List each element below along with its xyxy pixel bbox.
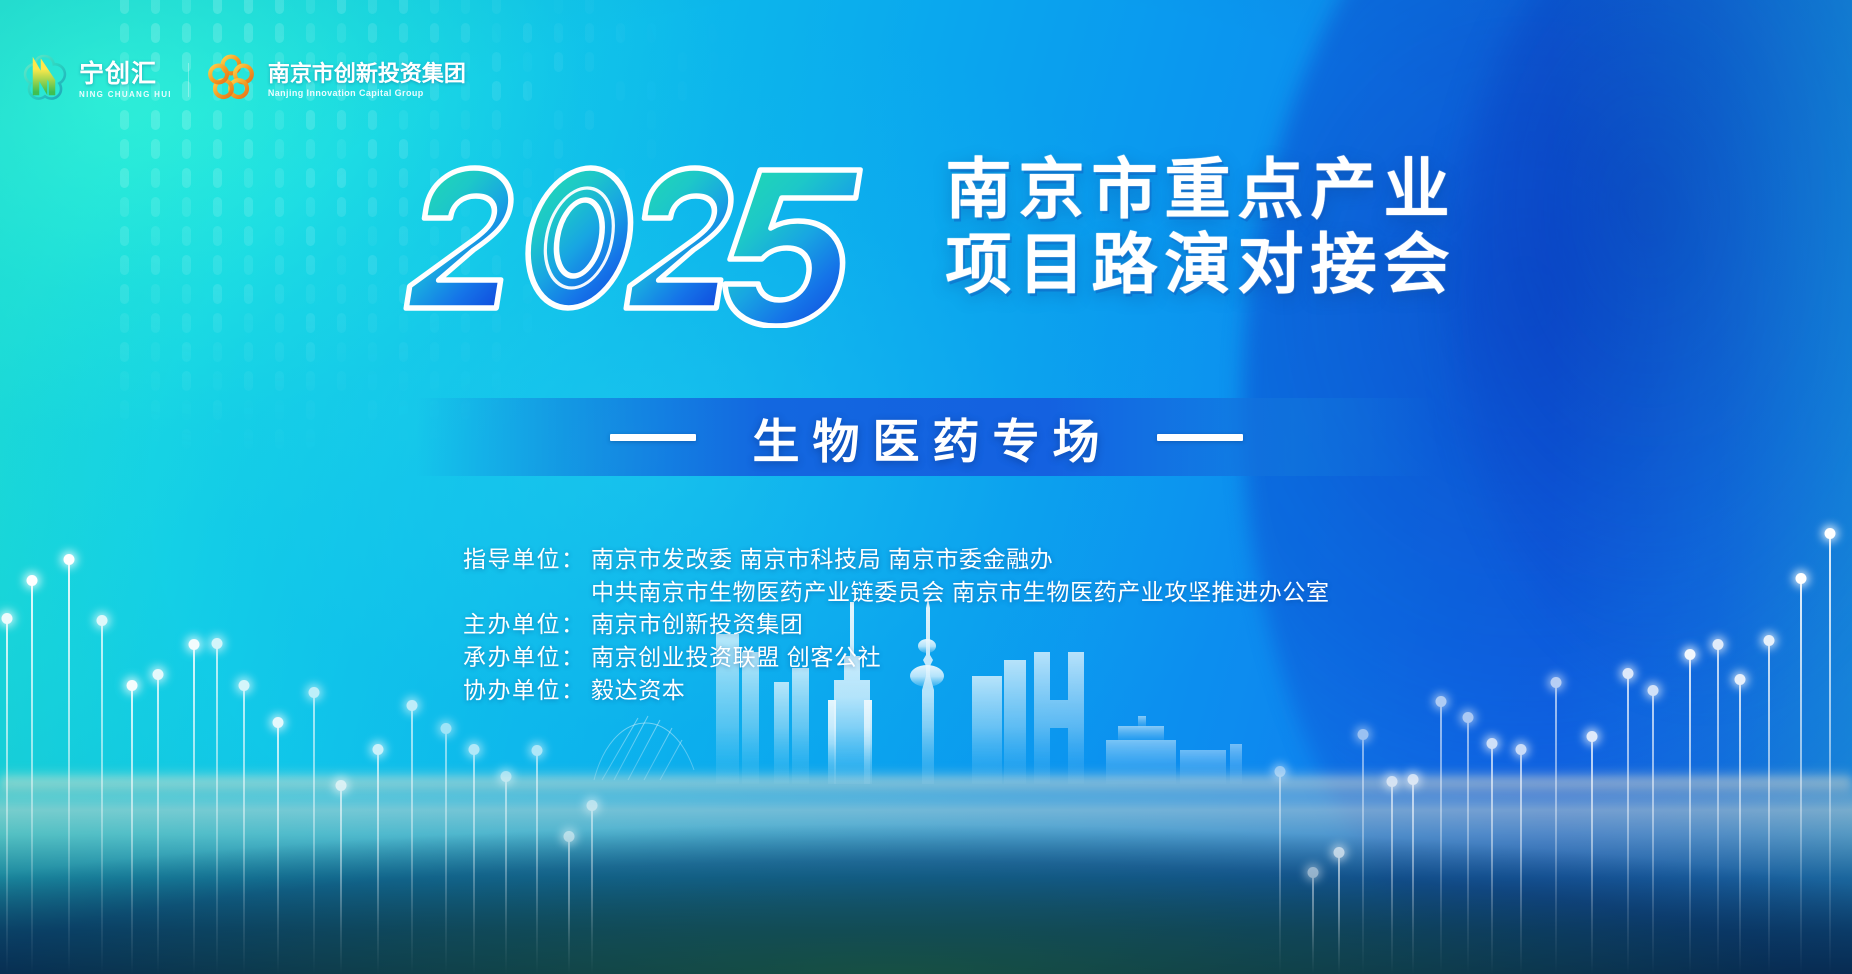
- hero-title-line-2: 项目路演对接会: [946, 229, 1457, 300]
- organizer-value-coorganizer: 毅达资本: [591, 674, 685, 707]
- logo-divider: [188, 63, 189, 97]
- ground-green-glow: [0, 824, 1852, 974]
- hero-title-chinese: 南京市重点产业 项目路演对接会: [946, 154, 1457, 301]
- hero-title-block: 南京市重点产业 项目路演对接会: [0, 150, 1852, 328]
- organizer-value-guidance-continued: 中共南京市生物医药产业链委员会 南京市生物医药产业攻坚推进办公室: [591, 576, 1330, 609]
- dash-left-icon: [610, 434, 696, 441]
- organizer-label-coorganizer: 协办单位：: [463, 674, 591, 707]
- organizer-row-host: 主办单位： 南京市创新投资集团: [463, 608, 1330, 641]
- logo-ning-chuang-hui: 宁创汇 NING CHUANG HUI: [16, 52, 172, 108]
- five-petal-knot-icon: [205, 52, 261, 108]
- organizer-label-host: 主办单位：: [463, 608, 591, 641]
- organizer-row-coorganizer: 协办单位： 毅达资本: [463, 674, 1330, 707]
- header-logos: 宁创汇 NING CHUANG HUI: [16, 52, 466, 108]
- subtitle-band: 生物医药专场: [416, 398, 1436, 476]
- organizer-value-host: 南京市创新投资集团: [591, 608, 803, 641]
- plum-blossom-icon: [16, 52, 72, 108]
- subtitle-text: 生物医药专场: [740, 403, 1113, 472]
- year-2025-graphic: [396, 158, 916, 328]
- organizer-row-guidance: 指导单位： 南京市发改委 南京市科技局 南京市委金融办: [463, 543, 1330, 576]
- logo-nicg-en: Nanjing Innovation Capital Group: [268, 88, 466, 98]
- logo-ning-chuang-hui-en: NING CHUANG HUI: [79, 90, 172, 99]
- hero-title-line-1: 南京市重点产业: [946, 154, 1457, 225]
- organizer-list: 指导单位： 南京市发改委 南京市科技局 南京市委金融办 中共南京市生物医药产业链…: [463, 543, 1330, 706]
- logo-ning-chuang-hui-cn: 宁创汇: [79, 61, 172, 87]
- organizer-row-organizer: 承办单位： 南京创业投资联盟 创客公社: [463, 641, 1330, 674]
- logo-nicg-text: 南京市创新投资集团 Nanjing Innovation Capital Gro…: [268, 62, 466, 98]
- organizer-label-guidance: 指导单位：: [463, 543, 591, 576]
- dash-right-icon: [1157, 434, 1243, 441]
- logo-nicg-cn: 南京市创新投资集团: [268, 62, 466, 85]
- organizer-value-guidance: 南京市发改委 南京市科技局 南京市委金融办: [591, 543, 1053, 576]
- organizer-label-organizer: 承办单位：: [463, 641, 591, 674]
- organizer-value-organizer: 南京创业投资联盟 创客公社: [591, 641, 881, 674]
- logo-nanjing-innovation-capital-group: 南京市创新投资集团 Nanjing Innovation Capital Gro…: [205, 52, 466, 108]
- event-poster: 宁创汇 NING CHUANG HUI: [0, 0, 1852, 974]
- logo-ning-chuang-hui-text: 宁创汇 NING CHUANG HUI: [79, 61, 172, 99]
